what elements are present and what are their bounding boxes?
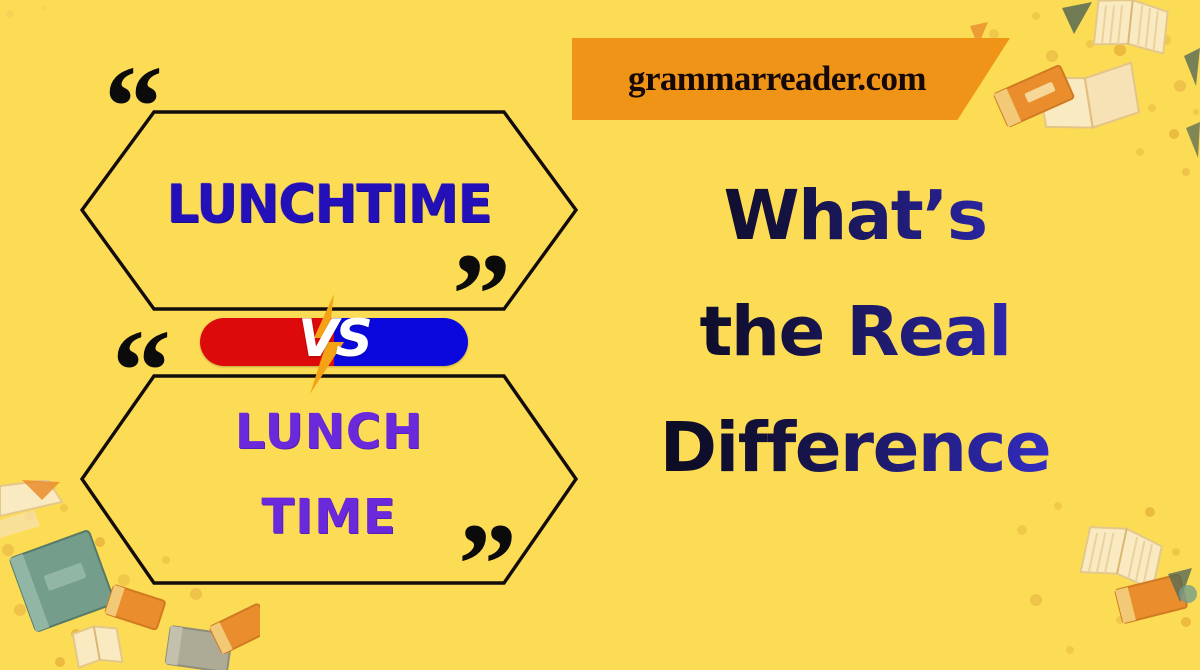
page-title: What’s the Real Difference	[620, 158, 1090, 506]
headline-line-1: What’s	[620, 158, 1090, 274]
website-banner: grammarreader.com	[572, 38, 1010, 120]
decor-books-bottom-right	[1000, 490, 1200, 670]
quote-open-icon-top: “	[104, 48, 163, 166]
quote-close-icon-bottom: ”	[458, 506, 517, 624]
website-banner-text: grammarreader.com	[628, 59, 954, 99]
term-label-lunchtime: LUNCHTIME	[88, 174, 570, 235]
headline-line-3: Difference	[620, 390, 1090, 506]
versus-label: VS	[200, 310, 468, 368]
poster-canvas: grammarreader.com What’s the Real Differ…	[0, 0, 1200, 670]
decor-dots-top-left	[0, 0, 120, 90]
headline-line-2: the Real	[620, 274, 1090, 390]
versus-badge: VS	[200, 296, 468, 392]
quote-open-icon-bottom: “	[112, 312, 171, 430]
